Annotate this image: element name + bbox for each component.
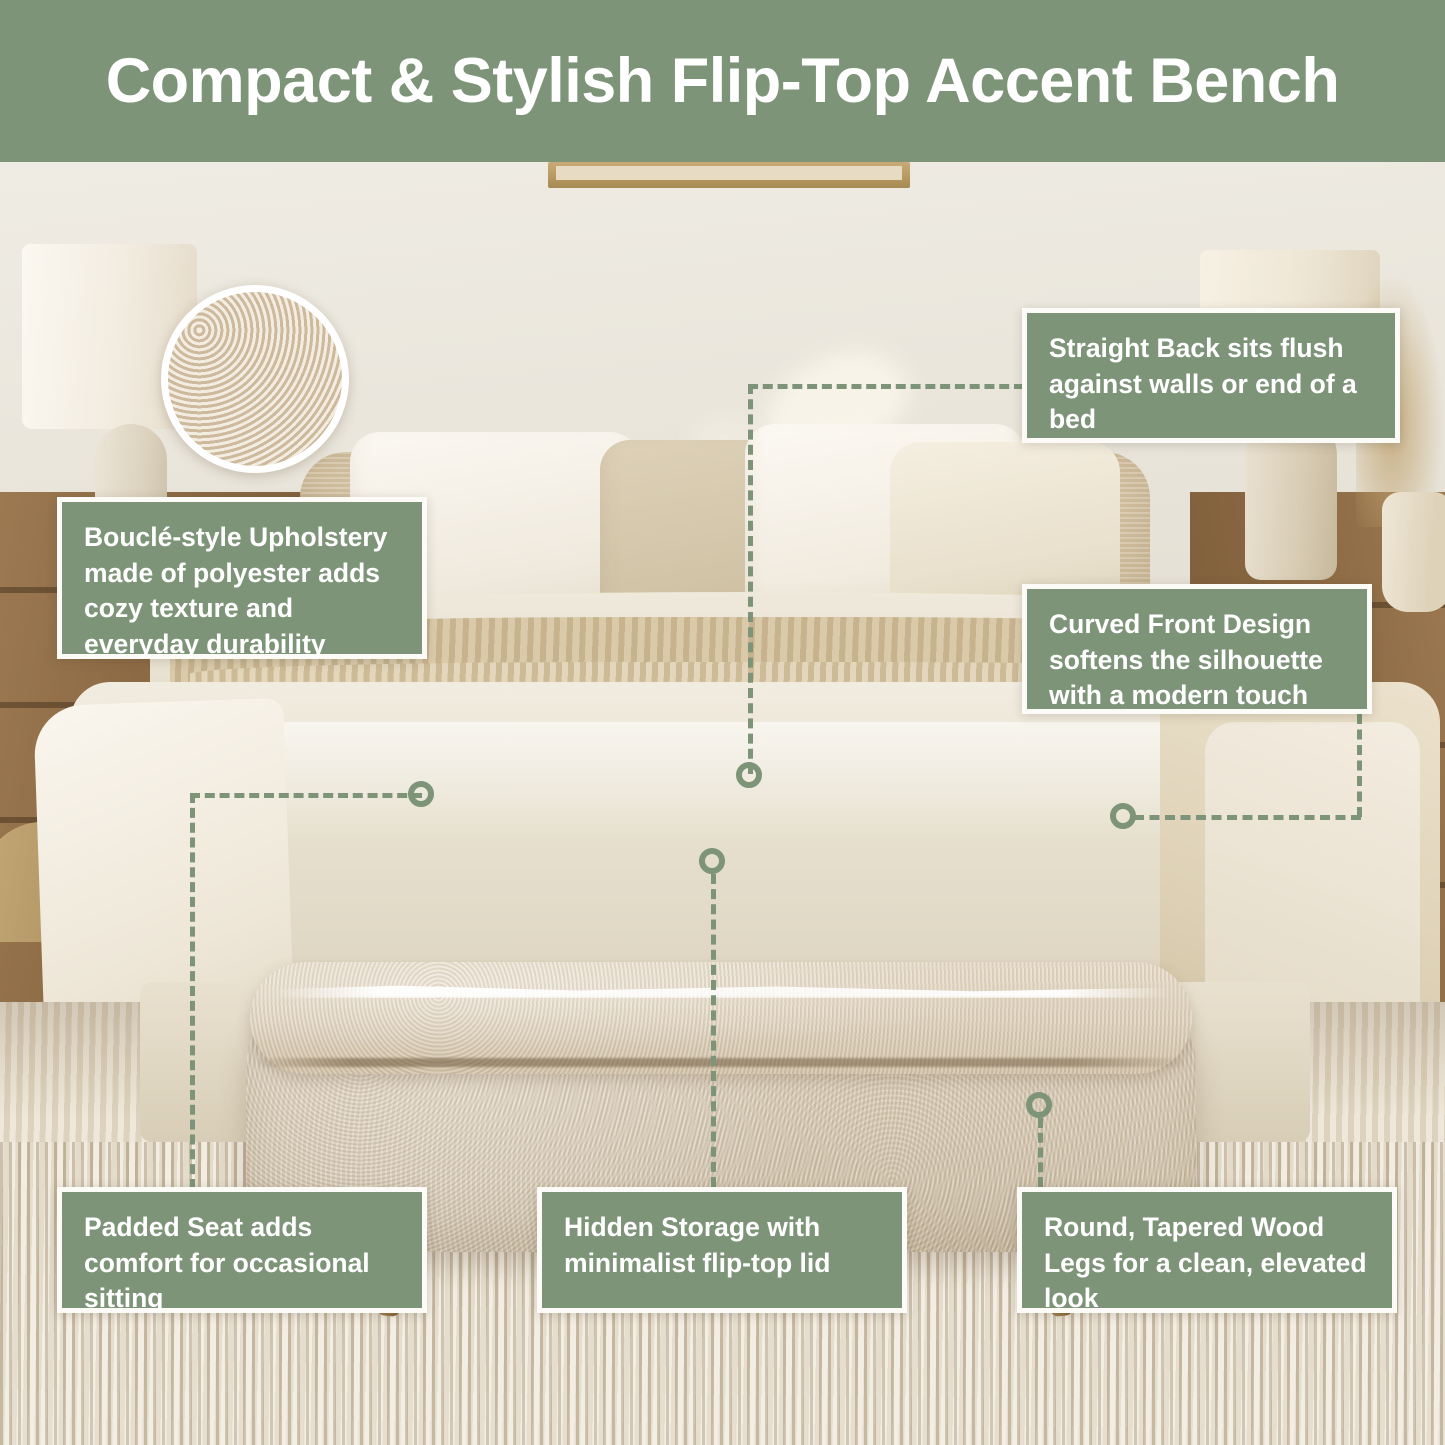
callout-wood-legs: Round, Tapered Wood Legs for a clean, el… <box>1017 1187 1397 1313</box>
callout-padded-seat-bold: Padded Seat <box>84 1212 243 1242</box>
connector-ring-padded-seat <box>408 781 434 807</box>
callout-curved-front-rest: softens the silhouette with a modern tou… <box>1049 645 1323 711</box>
connector-hidden-storage-vertical <box>711 874 716 1187</box>
connector-ring-wood-legs <box>1026 1092 1052 1118</box>
vase-right <box>1382 492 1445 612</box>
connector-padded-seat-vertical <box>190 793 195 1189</box>
callout-hidden-storage: Hidden Storage with minimalist flip-top … <box>537 1187 907 1313</box>
connector-ring-straight-back <box>736 762 762 788</box>
callout-hidden-storage-bold: Hidden Storage <box>564 1212 760 1242</box>
page-title: Compact & Stylish Flip-Top Accent Bench <box>106 50 1340 113</box>
callout-curved-front-bold: Curved Front Design <box>1049 609 1311 639</box>
callout-boucle-upholstery-bold: Bouclé-style Upholstery <box>84 522 387 552</box>
bench-lid-seam <box>258 1058 1184 1067</box>
callout-straight-back: Straight Back sits flush against walls o… <box>1022 308 1400 443</box>
connector-curved-front-vertical <box>1357 714 1362 817</box>
connector-ring-curved-front <box>1110 803 1136 829</box>
connector-curved-front-horizontal <box>1134 815 1361 820</box>
callout-boucle-upholstery-rest: made of polyester adds cozy texture and … <box>84 558 380 659</box>
callout-curved-front: Curved Front Design softens the silhouet… <box>1022 584 1372 714</box>
fabric-swatch-circle <box>161 285 349 473</box>
callout-boucle-upholstery: Bouclé-style Upholstery made of polyeste… <box>57 497 427 659</box>
infographic-root: Compact & Stylish Flip-Top Accent Bench … <box>0 0 1445 1445</box>
connector-straight-back-vertical <box>748 384 753 774</box>
wall-art-canvas <box>556 166 902 180</box>
connector-ring-hidden-storage <box>699 848 725 874</box>
callout-padded-seat: Padded Seat adds comfort for occasional … <box>57 1187 427 1313</box>
header-banner: Compact & Stylish Flip-Top Accent Bench <box>0 0 1445 162</box>
connector-straight-back-horizontal <box>748 384 1024 389</box>
connector-padded-seat-horizontal <box>190 793 422 798</box>
connector-wood-legs-vertical <box>1038 1118 1043 1187</box>
callout-straight-back-bold: Straight Back <box>1049 333 1220 363</box>
